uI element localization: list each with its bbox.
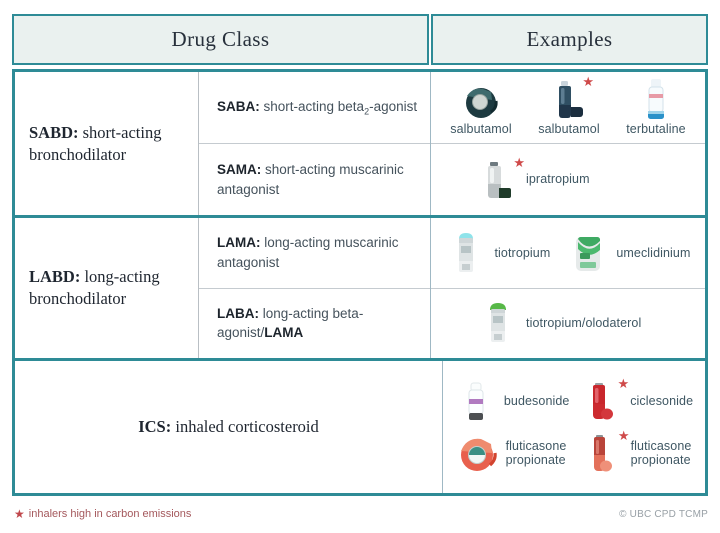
- turbuhaler-white-blue-icon: [635, 78, 677, 122]
- ellipta-green-grey-icon: [567, 231, 609, 275]
- subclass-abbr-lama: LAMA:: [217, 235, 261, 250]
- table-group-labd: LABD: long-acting bronchodilator LAMA: l…: [15, 215, 705, 358]
- drug-label: tiotropium/olodaterol: [526, 316, 641, 330]
- drug-item: budesonide: [455, 379, 570, 423]
- mdi-inhaler-grey-green-icon: ★: [477, 158, 519, 202]
- carbon-star-marker: ★: [618, 377, 630, 390]
- header-label-drug-class: Drug Class: [172, 27, 270, 52]
- mdi-inhaler-red-icon: ★: [581, 379, 623, 423]
- examples-cell-saba: salbutamol ★: [431, 72, 705, 143]
- carbon-emissions-footnote: ★ inhalers high in carbon emissions: [14, 507, 191, 521]
- drug-item: terbutaline: [626, 78, 685, 136]
- drug-label: salbutamol: [450, 122, 511, 136]
- diskus-inhaler-teal-icon: [460, 78, 502, 122]
- examples-cell-ics: budesonide ★: [443, 361, 705, 493]
- drug-item: ★ ciclesonide: [581, 379, 693, 423]
- class-name-ics: inhaled corticosteroid: [171, 417, 319, 436]
- examples-cell-laba: tiotropium/olodaterol: [431, 288, 705, 359]
- figure-footer: ★ inhalers high in carbon emissions © UB…: [0, 504, 720, 533]
- examples-column-ics: budesonide ★: [442, 361, 705, 493]
- subclass-column-sabd: SABA: short-acting beta2-agonist SAMA: s…: [199, 72, 431, 215]
- class-cell-ics: ICS: inhaled corticosteroid: [15, 361, 442, 493]
- subclass-cell-laba: LABA: long-acting beta-agonist/LAMA: [199, 288, 430, 359]
- examples-column-sabd: salbutamol ★: [431, 72, 705, 215]
- copyright-text: © UBC CPD TCMP: [619, 509, 708, 520]
- header-label-examples: Examples: [526, 27, 612, 52]
- drug-label: terbutaline: [626, 122, 685, 136]
- footnote-text: inhalers high in carbon emissions: [29, 508, 192, 520]
- class-cell-sabd: SABD: short-acting bronchodilator: [15, 72, 199, 215]
- subclass-abbr-laba: LABA:: [217, 306, 259, 321]
- header-cell-examples: Examples: [431, 14, 708, 65]
- drug-label: budesonide: [504, 394, 570, 408]
- class-abbr-labd: LABD:: [29, 267, 80, 286]
- drug-label: fluticasone propionate: [631, 439, 692, 468]
- carbon-star-marker: ★: [582, 75, 594, 88]
- table-group-sabd: SABD: short-acting bronchodilator SABA: …: [15, 72, 705, 215]
- table-body: SABD: short-acting bronchodilator SABA: …: [12, 69, 708, 496]
- drug-item: fluticasone propionate: [457, 431, 567, 475]
- carbon-star-marker: ★: [618, 429, 630, 442]
- drug-label: salbutamol: [538, 122, 599, 136]
- subclass-column-labd: LAMA: long-acting muscarinic antagonist …: [199, 218, 431, 358]
- subclass-cell-saba: SABA: short-acting beta2-agonist: [199, 72, 430, 143]
- drug-item: ★ salbutamol: [538, 78, 599, 136]
- mdi-inhaler-orange-icon: ★: [582, 431, 624, 475]
- table-group-ics: ICS: inhaled corticosteroid: [15, 358, 705, 493]
- class-abbr-ics: ICS:: [138, 417, 171, 436]
- drug-label: umeclidinium: [616, 246, 690, 260]
- drug-class-table-figure: Drug Class Examples SABD: short-acting b…: [0, 0, 720, 533]
- drug-item: salbutamol: [450, 78, 511, 136]
- carbon-star-marker-icon: ★: [14, 507, 25, 521]
- drug-item: umeclidinium: [567, 231, 690, 275]
- drug-label: fluticasone propionate: [506, 439, 567, 468]
- respimat-grey-green-icon: [477, 301, 519, 345]
- examples-column-labd: tiotropium umeclidinium: [431, 218, 705, 358]
- drug-item: ★ ipratropium: [477, 158, 590, 202]
- drug-label: ipratropium: [526, 172, 590, 186]
- examples-row-ics-1: budesonide ★: [449, 379, 699, 423]
- drug-label: tiotropium: [494, 246, 550, 260]
- mdi-inhaler-navy-icon: ★: [548, 78, 590, 122]
- subclass-abbr-sama: SAMA:: [217, 162, 261, 177]
- respimat-grey-cyan-icon: [445, 231, 487, 275]
- subclass-cell-sama: SAMA: short-acting muscarinic antagonist: [199, 143, 430, 215]
- header-cell-drug-class: Drug Class: [12, 14, 429, 65]
- table-header-row: Drug Class Examples: [12, 14, 708, 65]
- drug-item: ★ fluticasone propionate: [582, 431, 692, 475]
- examples-cell-lama: tiotropium umeclidinium: [431, 218, 705, 288]
- turbuhaler-white-purple-icon: [455, 379, 497, 423]
- carbon-star-marker: ★: [513, 156, 525, 169]
- diskus-inhaler-orange-icon: [457, 431, 499, 475]
- class-abbr-sabd: SABD:: [29, 123, 79, 142]
- examples-cell-sama: ★ ipratropium: [431, 143, 705, 215]
- subclass-abbr-saba: SABA:: [217, 99, 260, 114]
- drug-item: tiotropium/olodaterol: [477, 301, 641, 345]
- class-cell-labd: LABD: long-acting bronchodilator: [15, 218, 199, 358]
- examples-row-ics-2: fluticasone propionate ★: [449, 431, 699, 475]
- drug-item: tiotropium: [445, 231, 550, 275]
- drug-label: ciclesonide: [630, 394, 693, 408]
- subclass-cell-lama: LAMA: long-acting muscarinic antagonist: [199, 218, 430, 288]
- subclass-abbr-laba-tail: LAMA: [264, 325, 303, 340]
- subclass-name-saba-post: -agonist: [369, 99, 417, 114]
- subclass-name-saba-pre: short-acting beta: [260, 99, 364, 114]
